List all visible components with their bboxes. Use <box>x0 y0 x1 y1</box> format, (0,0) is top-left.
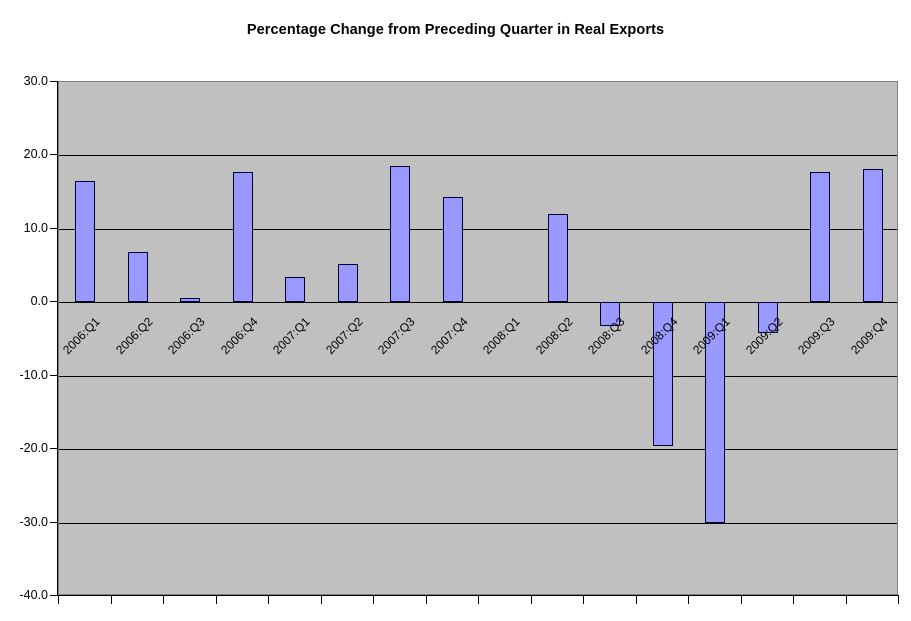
bar <box>128 252 148 302</box>
gridline <box>59 229 897 230</box>
y-axis-tick-label: 20.0 <box>0 147 48 161</box>
x-axis-tick <box>163 596 164 604</box>
y-axis-tick-label: 0.0 <box>0 294 48 308</box>
bar <box>338 264 358 302</box>
gridline <box>59 155 897 156</box>
bar <box>810 172 830 303</box>
gridline <box>59 376 897 377</box>
gridline <box>59 523 897 524</box>
y-axis-tick-label: -20.0 <box>0 441 48 455</box>
x-axis-tick <box>741 596 742 604</box>
chart-title: Percentage Change from Preceding Quarter… <box>0 22 911 38</box>
bar <box>390 166 410 302</box>
bar <box>180 298 200 302</box>
y-axis-tick-label: 10.0 <box>0 221 48 235</box>
x-axis-tick <box>583 596 584 604</box>
bar <box>443 197 463 303</box>
x-axis-tick <box>478 596 479 604</box>
x-axis-tick <box>216 596 217 604</box>
bar <box>548 214 568 302</box>
y-axis-tick-label: -10.0 <box>0 368 48 382</box>
x-axis-tick <box>373 596 374 604</box>
y-axis-tick-label: -30.0 <box>0 515 48 529</box>
x-axis-tick <box>426 596 427 604</box>
bar <box>233 172 253 302</box>
x-axis-tick <box>688 596 689 604</box>
x-axis-tick <box>321 596 322 604</box>
bar <box>285 277 305 302</box>
x-axis-tick <box>111 596 112 604</box>
x-axis-tick <box>268 596 269 604</box>
y-axis-tick-label: -40.0 <box>0 588 48 602</box>
x-axis-tick <box>846 596 847 604</box>
x-axis-tick <box>898 596 899 604</box>
x-axis-tick <box>58 596 59 604</box>
gridline <box>59 449 897 450</box>
y-axis-tick-label: 30.0 <box>0 74 48 88</box>
bar <box>863 169 883 302</box>
bar <box>75 181 95 302</box>
x-axis-tick <box>531 596 532 604</box>
chart-page: Percentage Change from Preceding Quarter… <box>0 0 911 621</box>
x-axis-tick <box>793 596 794 604</box>
x-axis-tick <box>636 596 637 604</box>
